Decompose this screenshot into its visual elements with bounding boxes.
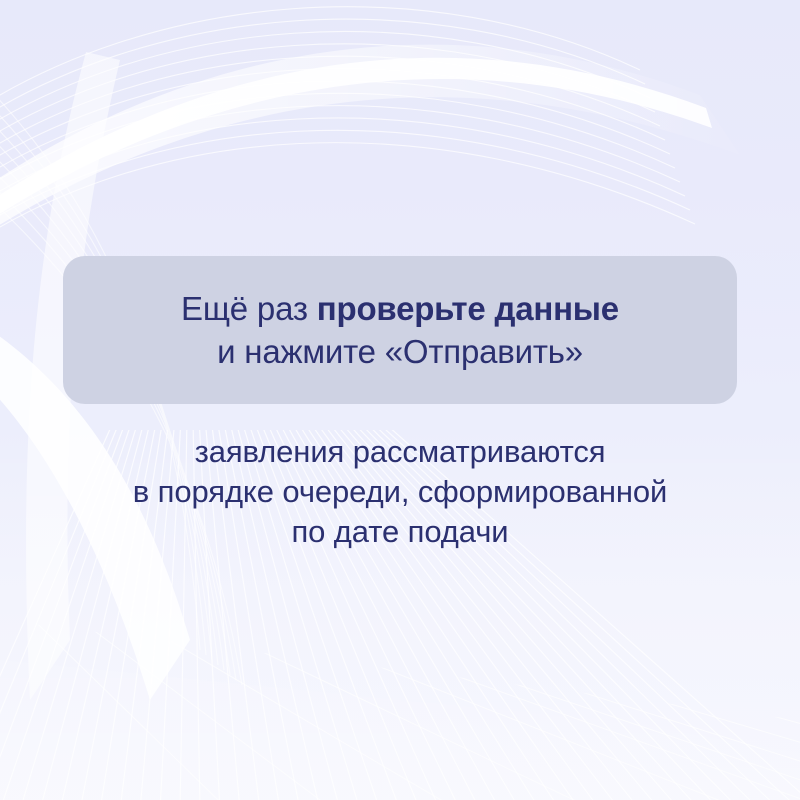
subtext-block: заявления рассматриваются в порядке очер… [0,432,800,552]
slide-content: Ещё раз проверьте данные и нажмите «Отпр… [0,0,800,800]
subtext-line-2: в порядке очереди, сформированной [0,472,800,512]
headline-line-1: Ещё раз проверьте данные [181,287,619,330]
headline-regular-text: Ещё раз [181,290,317,327]
subtext-line-3: по дате подачи [0,512,800,552]
headline-card: Ещё раз проверьте данные и нажмите «Отпр… [63,256,737,404]
headline-line-2: и нажмите «Отправить» [217,330,583,373]
headline-bold-text: проверьте данные [317,290,619,327]
slide-root: Ещё раз проверьте данные и нажмите «Отпр… [0,0,800,800]
subtext-line-1: заявления рассматриваются [0,432,800,472]
